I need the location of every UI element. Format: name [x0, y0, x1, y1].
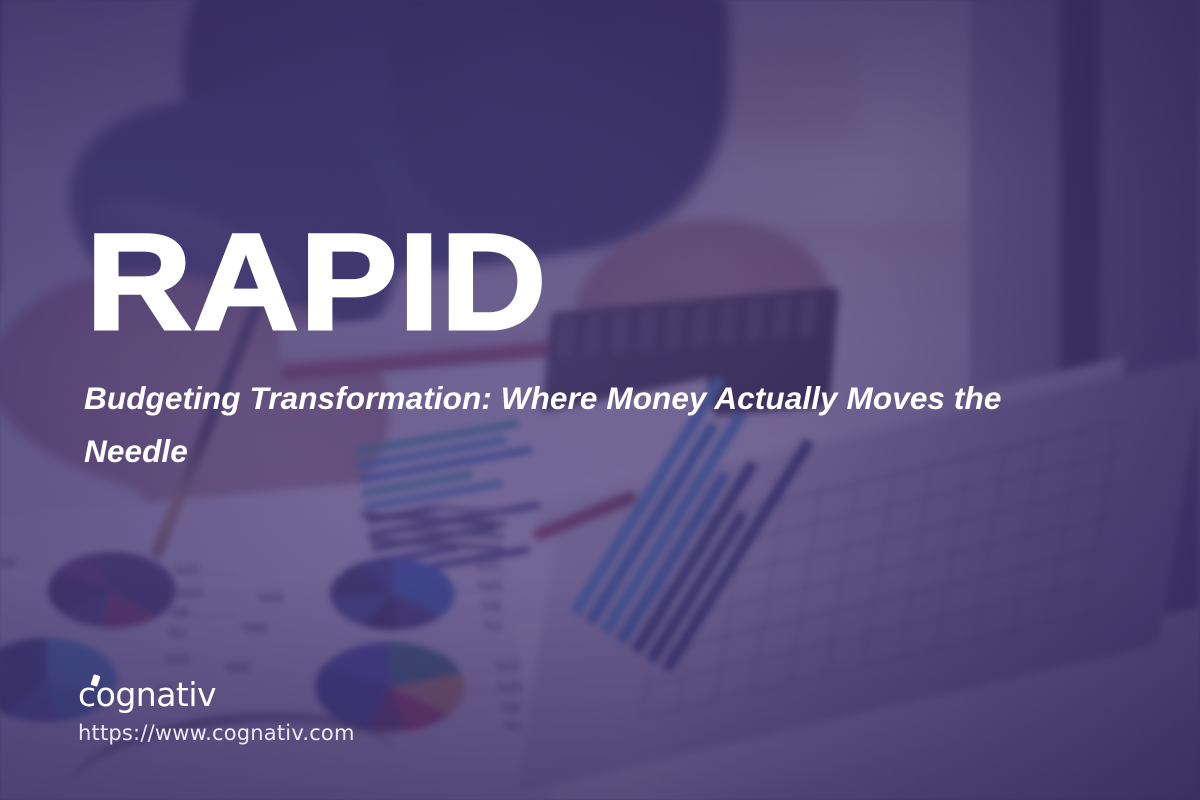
cognativ-logo[interactable]: cognativ — [78, 678, 216, 711]
brand-block: cognativ https://www.cognativ.com — [78, 678, 355, 744]
banner-content: RAPID Budgeting Transformation: Where Mo… — [0, 0, 1200, 800]
page-title: RAPID — [86, 214, 547, 351]
rapid-banner: 11% 10% 8% 7% 29% 35% 11% 10% 8% 7% 35% … — [0, 0, 1200, 800]
banner-subtitle: Budgeting Transformation: Where Money Ac… — [84, 372, 1094, 478]
website-url[interactable]: https://www.cognativ.com — [78, 723, 355, 744]
